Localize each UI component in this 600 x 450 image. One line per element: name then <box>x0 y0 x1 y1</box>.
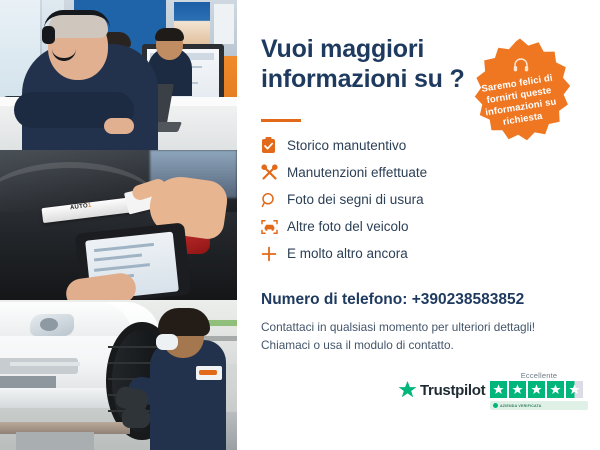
feature-label: Manutenzioni effettuate <box>287 165 427 180</box>
trustpilot-rating-label: Eccellente <box>490 371 588 380</box>
verified-business-label: AZIENDA VERIFICATA <box>500 404 541 408</box>
star-filled <box>490 381 507 398</box>
verified-business-badge: AZIENDA VERIFICATA <box>490 401 588 410</box>
phone-number-line[interactable]: Numero di telefono: +390238583852 <box>261 291 524 309</box>
contact-subtext-line-2: Chiamaci o usa il modulo di contatto. <box>261 336 561 354</box>
feature-list: Storico manutentivo Manutenzioni effettu… <box>261 132 491 267</box>
crossed-tools-icon <box>261 163 287 183</box>
title-divider <box>261 119 301 122</box>
feature-label: E molto altro ancora <box>287 246 408 261</box>
star-filled <box>547 381 564 398</box>
contact-subtext: Contattaci in qualsiasi momento per ulte… <box>261 318 561 354</box>
page-title: Vuoi maggiori informazioni su ? <box>261 34 476 94</box>
star-half <box>566 381 583 398</box>
trustpilot-logo: Trustpilot <box>398 381 485 399</box>
magnifier-icon <box>261 190 287 210</box>
trustpilot-rating: Eccellente <box>490 371 588 410</box>
verified-check-icon <box>493 403 498 408</box>
trustpilot-star-icon <box>398 381 417 399</box>
feature-item-foto-usura: Foto dei segni di usura <box>261 186 491 213</box>
plus-icon <box>261 244 287 264</box>
call-center-photo <box>0 0 237 150</box>
feature-item-altro-ancora: E molto altro ancora <box>261 240 491 267</box>
trustpilot-wordmark: Trustpilot <box>420 382 485 399</box>
photo-column: AUTO1 <box>0 0 237 450</box>
workshop-wheel-photo <box>0 300 237 450</box>
star-filled <box>509 381 526 398</box>
feature-item-manutenzioni: Manutenzioni effettuate <box>261 159 491 186</box>
contact-subtext-line-1: Contattaci in qualsiasi momento per ulte… <box>261 318 561 336</box>
star-filled <box>528 381 545 398</box>
feature-label: Foto dei segni di usura <box>287 192 424 207</box>
headphones-icon <box>513 58 529 72</box>
clipboard-check-icon <box>261 136 287 156</box>
vehicle-inspection-photo: AUTO1 <box>0 150 237 300</box>
trustpilot-stars <box>490 381 588 398</box>
callout-badge: Saremo felici di fornirti queste informa… <box>465 36 575 146</box>
feature-item-storico: Storico manutentivo <box>261 132 491 159</box>
feature-label: Storico manutentivo <box>287 138 406 153</box>
content-panel: Vuoi maggiori informazioni su ? Saremo f… <box>237 0 600 450</box>
promo-banner: AUTO1 <box>0 0 600 450</box>
car-scan-frame-icon <box>261 217 287 237</box>
trustpilot-widget[interactable]: Trustpilot Eccellente <box>398 371 588 417</box>
feature-label: Altre foto del veicolo <box>287 219 409 234</box>
feature-item-altre-foto: Altre foto del veicolo <box>261 213 491 240</box>
